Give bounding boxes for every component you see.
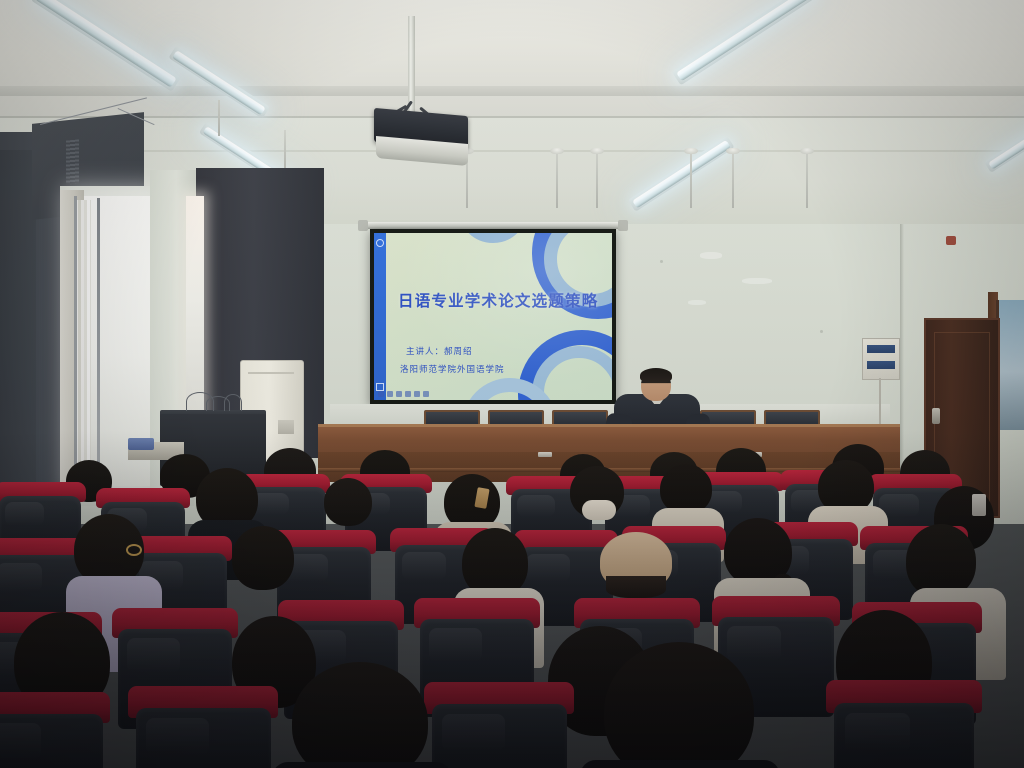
light-rod-7 — [284, 130, 286, 172]
light-rod-6 — [806, 152, 808, 208]
light-rod-cap-4 — [684, 148, 698, 154]
wall-control-panel[interactable] — [862, 338, 900, 380]
seat[interactable] — [128, 686, 278, 768]
wall-mark — [688, 300, 706, 305]
audience-seating-area — [0, 430, 1024, 768]
seat[interactable] — [424, 682, 574, 768]
presentation-slide: 日语专业学术论文选题策略 主讲人：郝周绍 洛阳师范学院外国语学院 — [374, 233, 612, 400]
hair-under-hat — [606, 576, 666, 598]
seat[interactable] — [0, 692, 110, 768]
control-panel-switch-row-2[interactable] — [867, 361, 895, 369]
screen-glare — [374, 233, 612, 400]
cable-loop-3 — [224, 394, 242, 411]
ceiling-beam — [0, 86, 1024, 96]
lecture-hall-photo: 日语专业学术论文选题策略 主讲人：郝周绍 洛阳师范学院外国语学院 — [0, 0, 1024, 768]
seat[interactable] — [826, 680, 982, 768]
light-rod-cap-3 — [590, 148, 604, 154]
speaker-grille — [66, 139, 79, 184]
light-rod-4 — [690, 152, 692, 208]
door-handle[interactable] — [932, 408, 940, 424]
ac-vent — [248, 372, 294, 374]
projection-screen: 日语专业学术论文选题策略 主讲人：郝周绍 洛阳师范学院外国语学院 — [370, 229, 616, 404]
hair-scrunchie — [582, 500, 616, 520]
pipe-valve — [946, 236, 956, 245]
light-rod-3 — [596, 152, 598, 208]
side-window — [996, 300, 1024, 430]
light-rod-2 — [556, 152, 558, 208]
control-panel-conduit — [879, 378, 881, 424]
light-rod-cap-2 — [550, 148, 564, 154]
wall-speck — [820, 330, 823, 333]
wall-speck — [660, 260, 663, 263]
speaker-hair — [640, 368, 672, 383]
light-rod-5 — [732, 152, 734, 208]
light-rod-cap-6 — [800, 148, 814, 154]
wall-trim-line — [0, 150, 1024, 152]
light-rod-8 — [218, 100, 220, 136]
wall-mark — [700, 252, 722, 259]
screen-roller-bracket-right — [618, 220, 628, 231]
control-panel-switch-row-1[interactable] — [867, 345, 895, 353]
eyeglasses — [126, 544, 142, 556]
light-rod-cap-5 — [726, 148, 740, 154]
screen-roller-bar — [362, 222, 624, 229]
hair-clip — [972, 494, 986, 516]
screen-roller-bracket-left — [358, 220, 368, 231]
wall-mark — [742, 278, 772, 284]
